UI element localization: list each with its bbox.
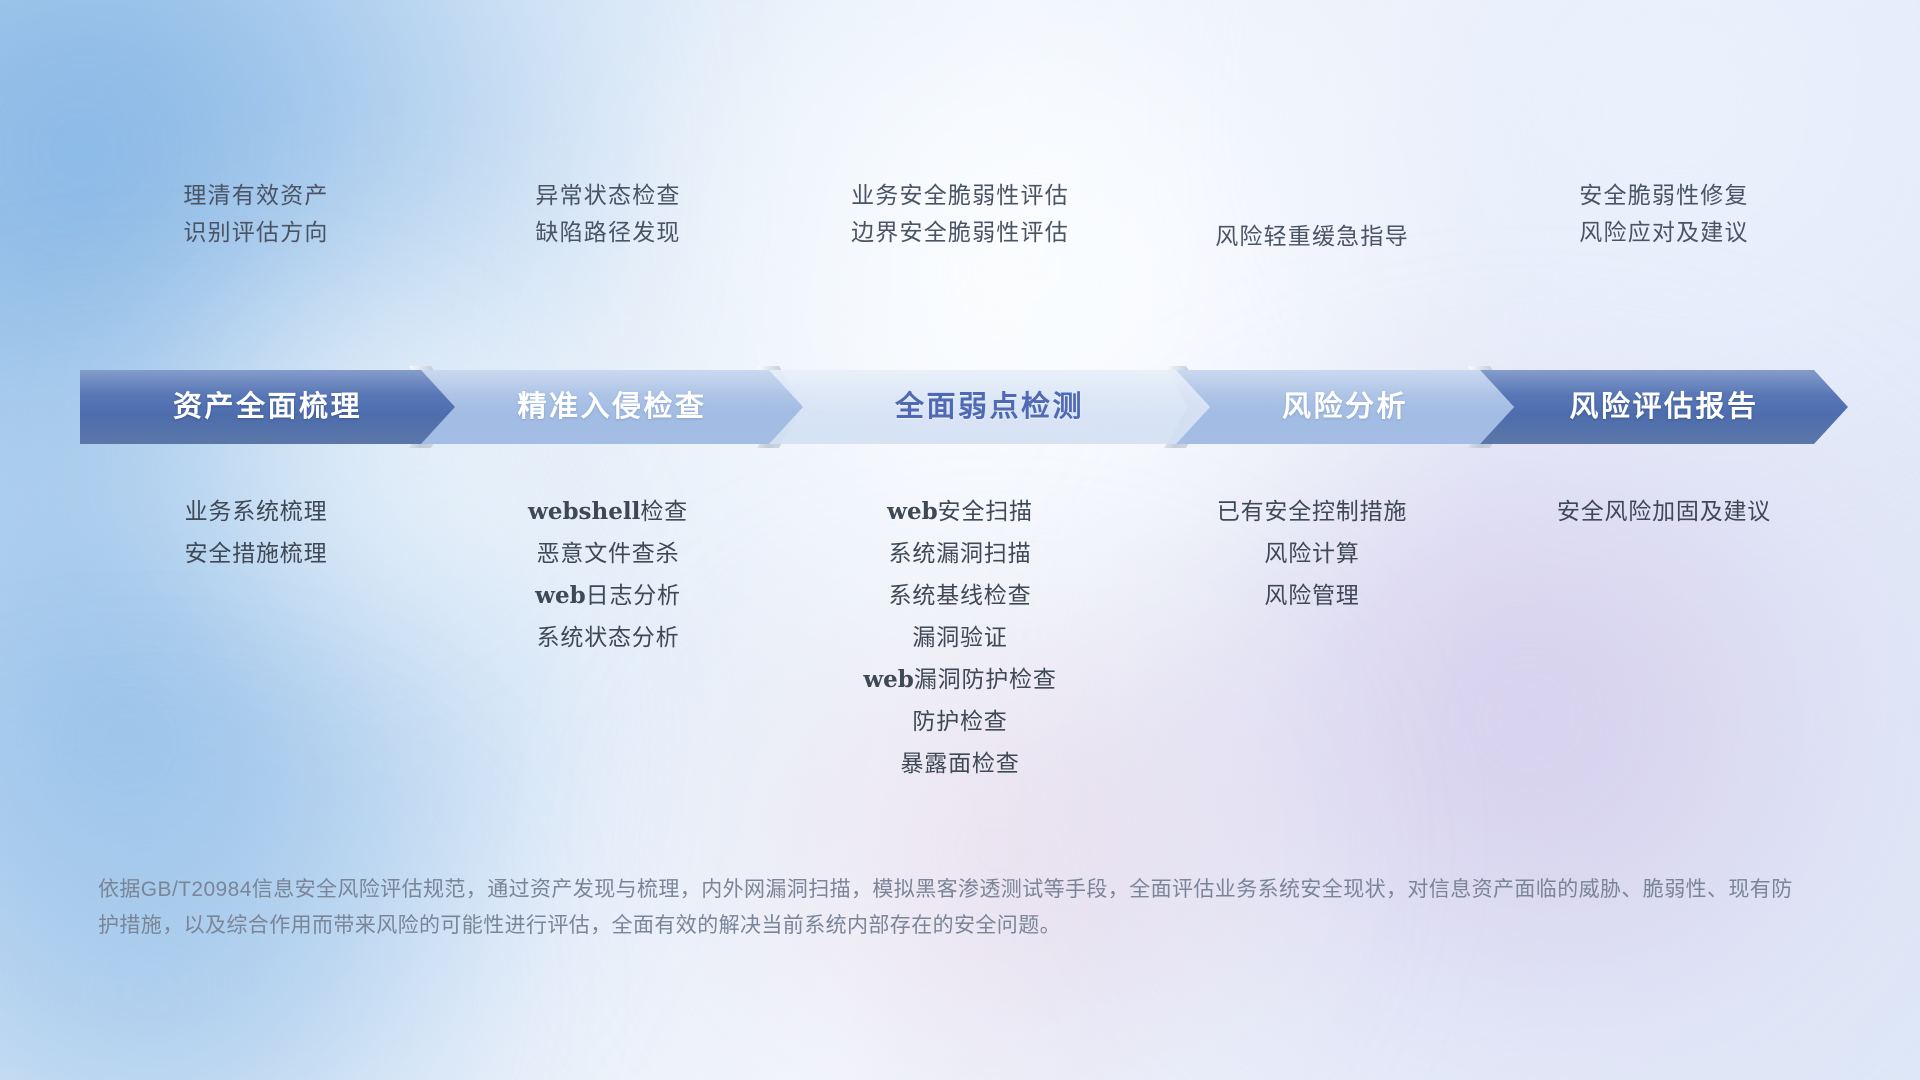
stage-detail-item-cjk: 防护检查 [912,708,1007,734]
stage-top-label: 安全脆弱性修复 [1579,184,1748,207]
process-stage-title: 精准入侵检查 [517,393,706,422]
stage-detail-item-cjk: 漏洞防护检查 [914,666,1057,692]
process-stage-title: 风险评估报告 [1569,393,1758,422]
stage-detail-item: 防护检查 [912,710,1007,733]
stage-top-labels-weakness-detection: 业务安全脆弱性评估边界安全脆弱性评估 [784,176,1136,296]
stage-top-label: 理清有效资产 [183,184,328,207]
stage-detail-list-weakness-detection: web安全扫描系统漏洞扫描系统基线检查漏洞验证web漏洞防护检查防护检查暴露面检… [784,500,1136,775]
process-stage-risk-report[interactable]: 风险评估报告 [1480,370,1848,444]
stage-detail-item-cjk: 业务系统梳理 [185,498,328,524]
process-stage-weakness-detection[interactable]: 全面弱点检测 [769,370,1210,444]
stage-detail-item: 风险计算 [1264,542,1359,565]
stage-detail-item: 安全措施梳理 [185,542,328,565]
stage-detail-item: 暴露面检查 [901,752,1020,775]
stage-detail-item-cjk: 已有安全控制措施 [1217,498,1407,524]
stage-detail-item-cjk: 安全措施梳理 [185,540,328,566]
stage-detail-item-cjk: 风险计算 [1264,540,1359,566]
stage-detail-item-cjk: 安全风险加固及建议 [1557,498,1771,524]
stage-detail-item: web安全扫描 [887,500,1033,523]
stage-detail-list-risk-analysis: 已有安全控制措施风险计算风险管理 [1136,500,1488,607]
stage-top-label: 缺陷路径发现 [535,221,680,244]
stage-detail-item: webshell检查 [528,500,688,523]
process-stage-intrusion-check[interactable]: 精准入侵检查 [421,370,803,444]
process-stage-title: 风险分析 [1282,393,1408,422]
stage-detail-item-cjk: 系统漏洞扫描 [889,540,1032,566]
stage-top-label: 风险轻重缓急指导 [1215,225,1409,248]
stage-top-labels-risk-analysis: 风险轻重缓急指导 [1136,176,1488,296]
stage-top-label: 异常状态检查 [535,184,680,207]
process-stage-title: 资产全面梳理 [173,393,362,422]
stage-detail-item-cjk: 检查 [640,498,688,524]
slide-content: 理清有效资产识别评估方向异常状态检查缺陷路径发现业务安全脆弱性评估边界安全脆弱性… [0,0,1920,1080]
process-stage-title: 全面弱点检测 [895,393,1084,422]
stage-top-label: 识别评估方向 [183,221,328,244]
stage-detail-item: 风险管理 [1264,584,1359,607]
stage-top-label: 边界安全脆弱性评估 [851,221,1069,244]
stage-detail-item-cjk: 恶意文件查杀 [537,540,680,566]
stage-detail-item-cjk: 漏洞验证 [912,624,1007,650]
stage-detail-item-cjk: 暴露面检查 [901,750,1020,776]
stage-detail-item: web漏洞防护检查 [863,668,1056,691]
stage-detail-item: 系统状态分析 [537,626,680,649]
stage-detail-item: 系统基线检查 [889,584,1032,607]
stage-detail-lists-row: 业务系统梳理安全措施梳理webshell检查恶意文件查杀web日志分析系统状态分… [80,500,1840,775]
process-stage-asset-inventory[interactable]: 资产全面梳理 [80,370,455,444]
stage-top-labels-intrusion-check: 异常状态检查缺陷路径发现 [432,176,784,296]
stage-detail-item: 安全风险加固及建议 [1557,500,1771,523]
stage-detail-item-cjk: 日志分析 [586,582,681,608]
stage-top-labels-asset-inventory: 理清有效资产识别评估方向 [80,176,432,296]
stage-detail-item-cjk: 系统状态分析 [537,624,680,650]
stage-detail-item-latin: web [887,498,938,525]
stage-detail-list-intrusion-check: webshell检查恶意文件查杀web日志分析系统状态分析 [432,500,784,649]
stage-top-labels-row: 理清有效资产识别评估方向异常状态检查缺陷路径发现业务安全脆弱性评估边界安全脆弱性… [80,176,1840,296]
stage-top-label: 风险应对及建议 [1579,221,1748,244]
stage-detail-item: 业务系统梳理 [185,500,328,523]
stage-detail-item: 漏洞验证 [912,626,1007,649]
stage-detail-item-latin: webshell [528,498,640,525]
stage-top-label: 业务安全脆弱性评估 [851,184,1069,207]
stage-detail-item-cjk: 安全扫描 [938,498,1033,524]
process-arrow-band: 资产全面梳理精准入侵检查全面弱点检测风险分析风险评估报告 [80,370,1848,444]
stage-detail-item-latin: web [863,666,914,693]
stage-detail-item-latin: web [535,582,586,609]
stage-detail-item-cjk: 风险管理 [1264,582,1359,608]
stage-detail-item: 系统漏洞扫描 [889,542,1032,565]
stage-detail-item-cjk: 系统基线检查 [889,582,1032,608]
stage-detail-list-asset-inventory: 业务系统梳理安全措施梳理 [80,500,432,565]
process-stage-risk-analysis[interactable]: 风险分析 [1176,370,1514,444]
stage-detail-item: 恶意文件查杀 [537,542,680,565]
footer-description: 依据GB/T20984信息安全风险评估规范，通过资产发现与梳理，内外网漏洞扫描，… [98,872,1798,944]
stage-top-labels-risk-report: 安全脆弱性修复风险应对及建议 [1488,176,1840,296]
stage-detail-item: 已有安全控制措施 [1217,500,1407,523]
stage-detail-item: web日志分析 [535,584,681,607]
slide-canvas: 理清有效资产识别评估方向异常状态检查缺陷路径发现业务安全脆弱性评估边界安全脆弱性… [0,0,1920,1080]
stage-detail-list-risk-report: 安全风险加固及建议 [1488,500,1840,523]
